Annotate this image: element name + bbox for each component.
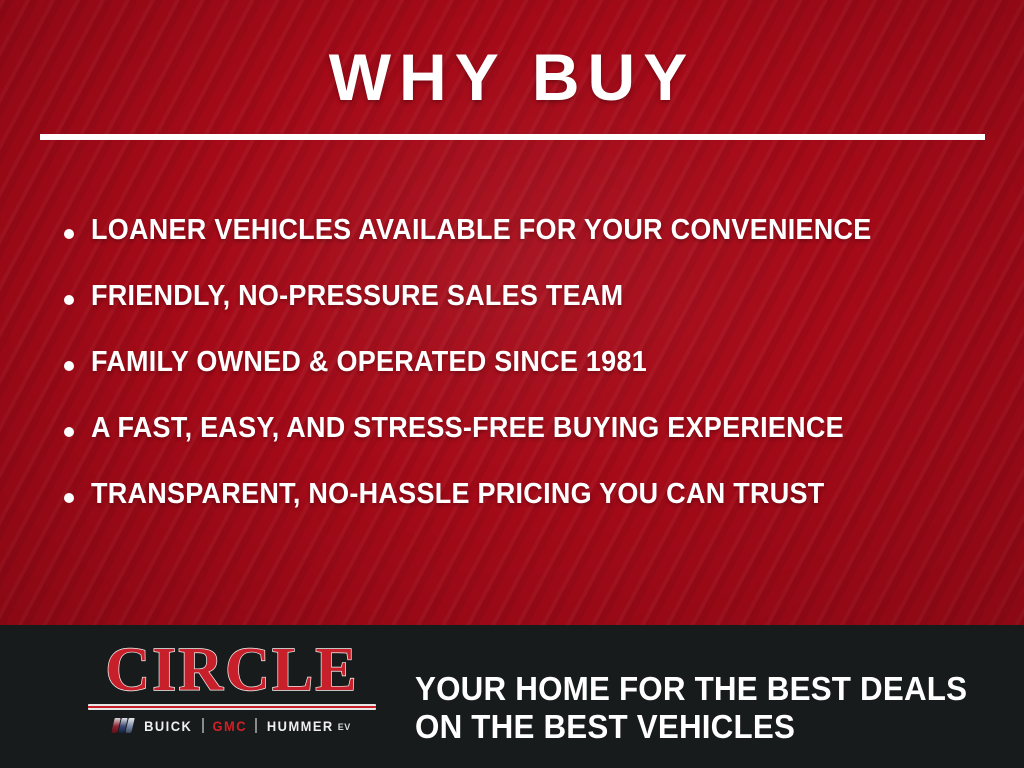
brand-label-buick: BUICK (144, 719, 192, 733)
benefits-list: LOANER VEHICLES AVAILABLE FOR YOUR CONVE… (64, 212, 984, 542)
dealer-logo: CIRCLE BUICK GMC HUMMER EV (88, 639, 376, 735)
bullet-dot-icon (64, 493, 74, 503)
bullet-dot-icon (64, 361, 74, 371)
brand-label-hummer: HUMMER (267, 719, 334, 733)
brand-strip: BUICK GMC HUMMER EV (88, 716, 376, 735)
logo-divider-rule-inner (88, 706, 376, 708)
list-item: A FAST, EASY, AND STRESS-FREE BUYING EXP… (64, 410, 984, 476)
list-item: FRIENDLY, NO-PRESSURE SALES TEAM (64, 278, 984, 344)
list-item: FAMILY OWNED & OPERATED SINCE 1981 (64, 344, 984, 410)
footer-tagline-line2: ON THE BEST VEHICLES (415, 708, 967, 746)
footer-tagline: YOUR HOME FOR THE BEST DEALS ON THE BEST… (415, 670, 967, 746)
buick-tri-shield-icon (113, 718, 133, 733)
bullet-dot-icon (64, 295, 74, 305)
list-item-label: A FAST, EASY, AND STRESS-FREE BUYING EXP… (91, 410, 844, 446)
list-item-label: TRANSPARENT, NO-HASSLE PRICING YOU CAN T… (91, 476, 825, 512)
brand-separator-icon (255, 718, 257, 733)
brand-label-hummer-group: HUMMER EV (264, 719, 350, 733)
bullet-dot-icon (64, 229, 74, 239)
list-item: TRANSPARENT, NO-HASSLE PRICING YOU CAN T… (64, 476, 984, 542)
list-item-label: FRIENDLY, NO-PRESSURE SALES TEAM (91, 278, 623, 314)
slide-root: WHY BUY LOANER VEHICLES AVAILABLE FOR YO… (0, 0, 1024, 768)
footer-tagline-line1: YOUR HOME FOR THE BEST DEALS (415, 670, 967, 708)
logo-divider-rule (88, 704, 376, 710)
list-item: LOANER VEHICLES AVAILABLE FOR YOUR CONVE… (64, 212, 984, 278)
footer-bar: CIRCLE BUICK GMC HUMMER EV (0, 625, 1024, 768)
page-title: WHY BUY (0, 44, 1024, 110)
list-item-label: FAMILY OWNED & OPERATED SINCE 1981 (91, 344, 647, 380)
brand-label-hummer-ev-suffix: EV (338, 722, 351, 733)
bullet-dot-icon (64, 427, 74, 437)
dealer-logo-wordmark: CIRCLE (88, 639, 376, 701)
list-item-label: LOANER VEHICLES AVAILABLE FOR YOUR CONVE… (91, 212, 872, 248)
brand-separator-icon (202, 718, 204, 733)
title-divider-rule (40, 134, 985, 140)
brand-label-gmc: GMC (212, 719, 246, 733)
